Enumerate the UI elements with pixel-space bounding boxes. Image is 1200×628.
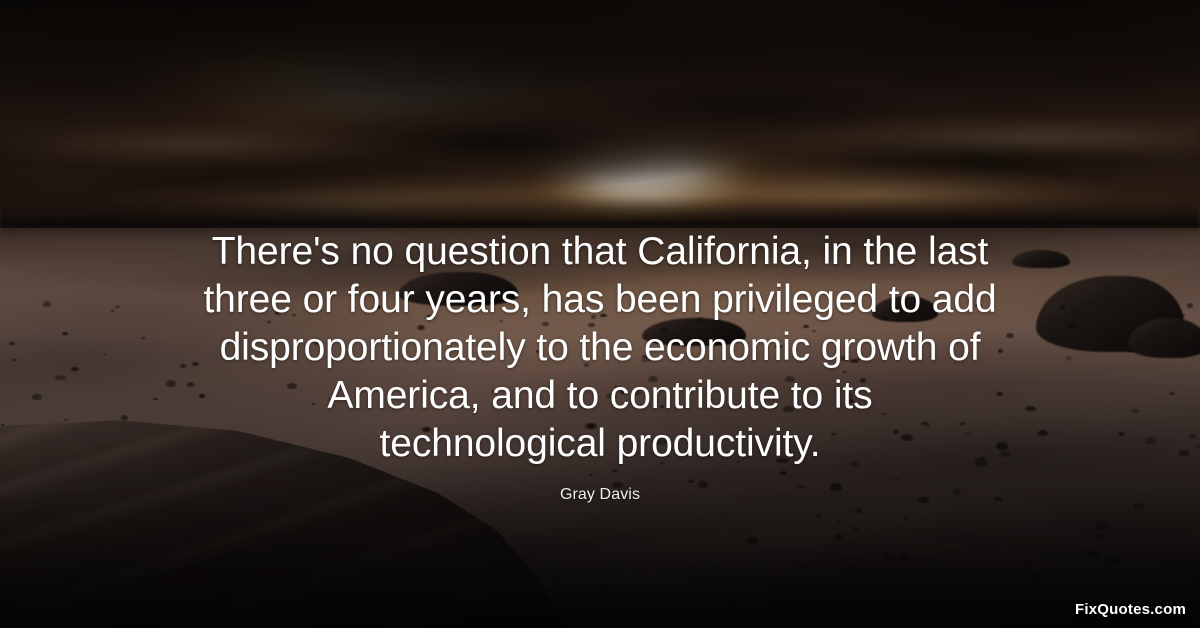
- site-watermark: FixQuotes.com: [1075, 601, 1186, 618]
- quote-text: There's no question that California, in …: [160, 228, 1040, 468]
- quote-card: There's no question that California, in …: [0, 0, 1200, 628]
- content-layer: There's no question that California, in …: [0, 0, 1200, 628]
- quote-author: Gray Davis: [300, 486, 900, 504]
- quote-block: There's no question that California, in …: [160, 228, 1040, 468]
